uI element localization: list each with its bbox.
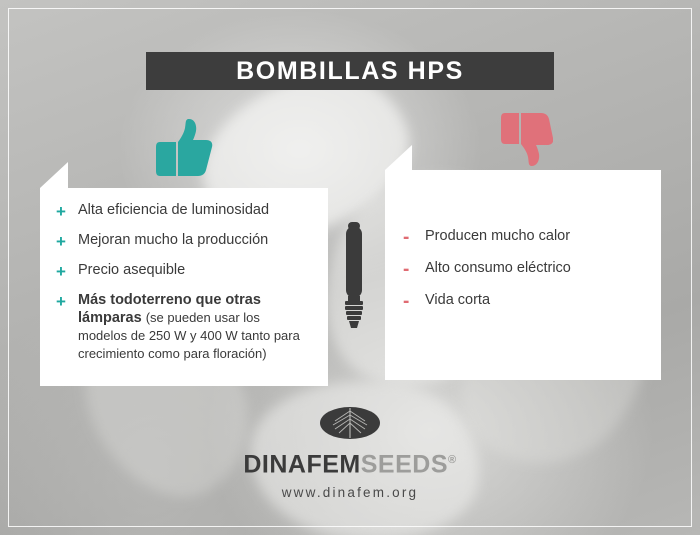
pros-list: + Alta eficiencia de luminosidad + Mejor… [40,188,328,375]
brand-name-light: SEEDS [361,450,448,478]
list-item: - Producen mucho calor [403,228,645,246]
registered-mark: ® [448,454,457,466]
cons-item-text: Vida corta [425,292,490,309]
pros-item-text: Mejoran mucho la producción [78,232,268,249]
thumbs-down-icon [495,112,553,173]
cons-list: - Producen mucho calor - Alto consumo el… [385,170,661,324]
infographic-canvas: BOMBILLAS HPS + [0,0,700,535]
pros-item-text: Precio asequible [78,262,185,279]
plus-bullet-icon: + [56,263,70,280]
list-item: + Alta eficiencia de luminosidad [56,202,312,220]
list-item: + Precio asequible [56,262,312,280]
plus-bullet-icon: + [56,203,70,220]
cons-item-text: Alto consumo eléctrico [425,260,571,277]
minus-bullet-icon: - [403,261,417,278]
list-item: - Vida corta [403,292,645,310]
brand-wordmark: DINAFEMSEEDS® [0,447,700,477]
pros-card: + Alta eficiencia de luminosidad + Mejor… [40,188,328,386]
pros-item-text: Alta eficiencia de luminosidad [78,202,269,219]
card-notch-right [385,145,412,170]
hps-bulb-icon [336,222,372,337]
minus-bullet-icon: - [403,229,417,246]
thumbs-up-icon [148,118,214,185]
plus-bullet-icon: + [56,233,70,250]
pros-item-text-group: Más todoterreno que otras lámparas (se p… [78,292,312,363]
plus-bullet-icon: + [56,293,70,310]
footer-brand: DINAFEMSEEDS® www.dinafem.org [0,405,700,500]
card-notch-left [40,162,68,188]
list-item: - Alto consumo eléctrico [403,260,645,278]
list-item: + Mejoran mucho la producción [56,232,312,250]
brand-url: www.dinafem.org [0,485,700,500]
cons-item-text: Producen mucho calor [425,228,570,245]
page-title-bar: BOMBILLAS HPS [146,52,554,90]
minus-bullet-icon: - [403,293,417,310]
cons-card: - Producen mucho calor - Alto consumo el… [385,170,661,380]
list-item: + Más todoterreno que otras lámparas (se… [56,292,312,363]
brand-name-dark: DINAFEM [243,450,360,478]
page-title: BOMBILLAS HPS [236,57,464,86]
dinafem-leaf-logo [319,405,381,441]
